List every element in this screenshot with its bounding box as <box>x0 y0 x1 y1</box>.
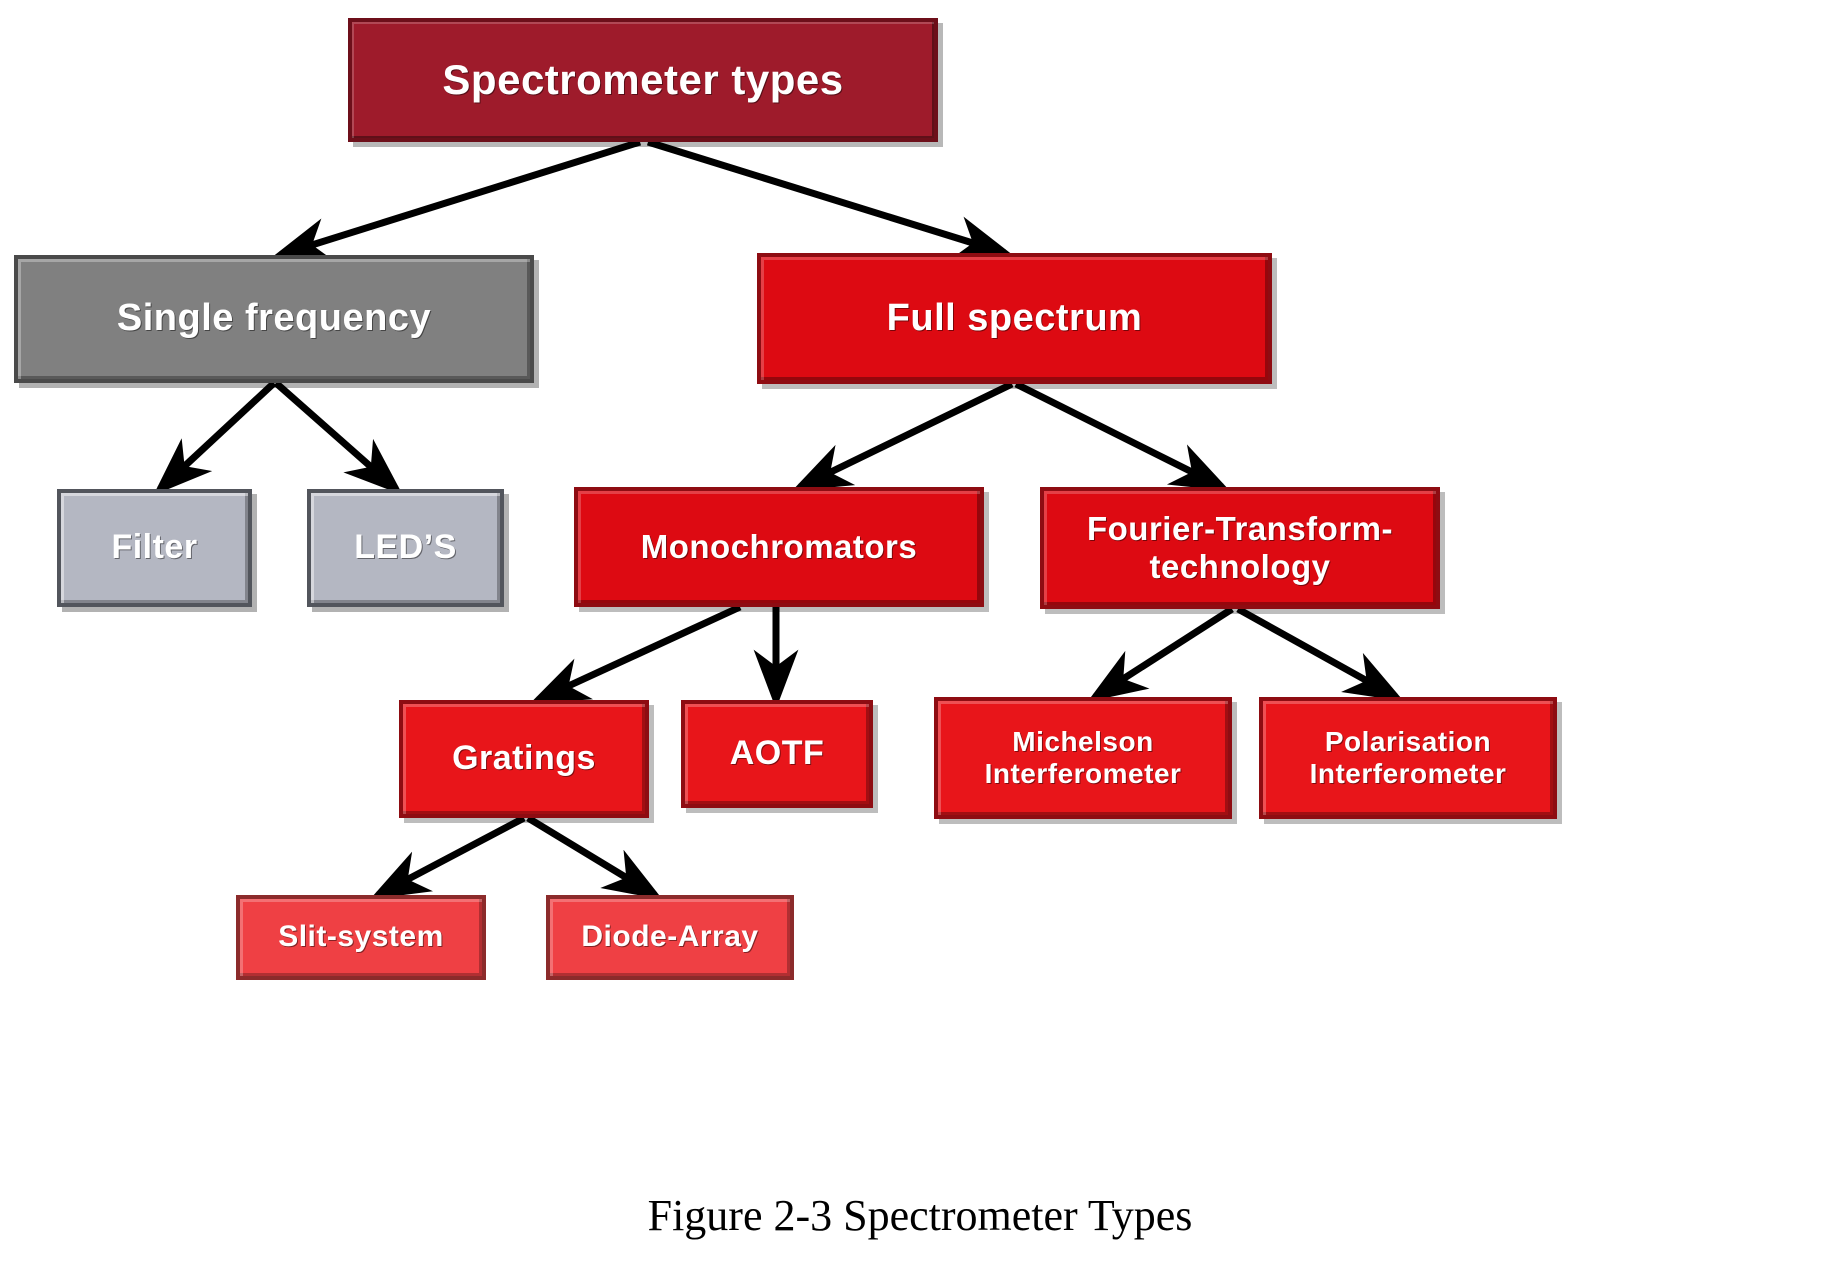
node-label-single: Single frequency <box>18 297 530 341</box>
node-filter[interactable]: Filter <box>57 489 252 607</box>
edge-full-to-mono <box>800 384 1012 487</box>
edge-single-to-filter <box>160 383 274 489</box>
edge-root-to-single <box>280 142 640 255</box>
node-polaris[interactable]: Polarisation Interferometer <box>1259 697 1557 819</box>
node-leds[interactable]: LED’S <box>307 489 504 607</box>
node-ft[interactable]: Fourier-Transform-technology <box>1040 487 1440 609</box>
node-label-michelson: Michelson Interferometer <box>938 726 1228 790</box>
edge-single-to-leds <box>276 383 396 489</box>
diagram-edges <box>0 0 1840 1264</box>
edge-full-to-ft <box>1016 384 1222 487</box>
node-label-leds: LED’S <box>311 528 500 567</box>
edge-ft-to-michelson <box>1095 609 1232 697</box>
node-gratings[interactable]: Gratings <box>399 700 649 818</box>
edge-ft-to-polaris <box>1238 609 1396 697</box>
node-mono[interactable]: Monochromators <box>574 487 984 607</box>
node-label-aotf: AOTF <box>685 734 869 773</box>
node-aotf[interactable]: AOTF <box>681 700 873 808</box>
node-root[interactable]: Spectrometer types <box>348 18 938 142</box>
node-label-slit: Slit-system <box>240 920 482 955</box>
edge-root-to-full <box>648 142 1005 253</box>
node-full[interactable]: Full spectrum <box>757 253 1272 384</box>
node-label-gratings: Gratings <box>403 739 645 778</box>
node-michelson[interactable]: Michelson Interferometer <box>934 697 1232 819</box>
node-label-diode: Diode-Array <box>550 920 790 955</box>
edge-mono-to-gratings <box>538 607 740 700</box>
node-label-ft: Fourier-Transform-technology <box>1044 510 1436 586</box>
node-label-mono: Monochromators <box>578 528 980 566</box>
diagram-canvas: Spectrometer typesSingle frequencyFull s… <box>0 0 1840 1264</box>
edge-gratings-to-diode <box>528 818 655 895</box>
node-single[interactable]: Single frequency <box>14 255 534 383</box>
node-label-polaris: Polarisation Interferometer <box>1263 726 1553 790</box>
node-label-full: Full spectrum <box>761 297 1268 341</box>
figure-caption: Figure 2-3 Spectrometer Types <box>0 1190 1840 1241</box>
node-slit[interactable]: Slit-system <box>236 895 486 980</box>
edge-gratings-to-slit <box>378 818 524 895</box>
node-label-filter: Filter <box>61 528 248 567</box>
node-diode[interactable]: Diode-Array <box>546 895 794 980</box>
node-label-root: Spectrometer types <box>352 56 934 104</box>
